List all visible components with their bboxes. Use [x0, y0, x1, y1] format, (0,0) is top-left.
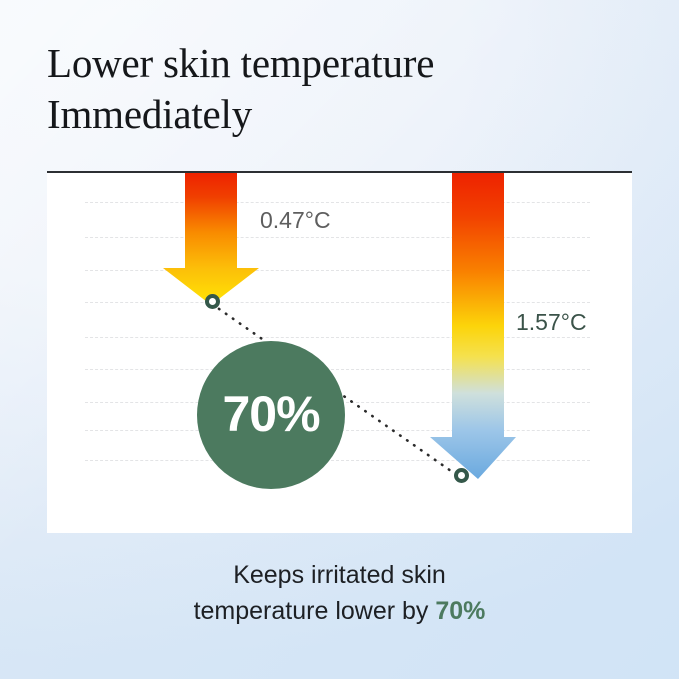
temperature-arrow-left [163, 173, 259, 305]
data-point-marker-right [454, 468, 469, 483]
percent-badge: 70% [197, 341, 345, 489]
temperature-arrow-right [416, 173, 516, 479]
page-title: Lower skin temperature Immediately [47, 38, 617, 140]
caption-line-1: Keeps irritated skin [0, 557, 679, 593]
page-title-line-1: Lower skin temperature [47, 38, 617, 89]
caption-line-2: temperature lower by 70% [0, 593, 679, 629]
connector-dotted-line [47, 173, 632, 533]
page-title-line-2: Immediately [47, 89, 617, 140]
caption-line-2-prefix: temperature lower by [194, 597, 436, 625]
percent-badge-value: 70% [222, 389, 319, 439]
caption: Keeps irritated skin temperature lower b… [0, 557, 679, 629]
caption-highlight-percent: 70% [435, 597, 485, 625]
temperature-label-left: 0.47°C [260, 207, 331, 234]
chart-panel [47, 171, 632, 533]
data-point-marker-left [205, 294, 220, 309]
temperature-label-right: 1.57°C [516, 309, 587, 336]
infographic-page: Lower skin temperature Immediately [0, 0, 679, 679]
